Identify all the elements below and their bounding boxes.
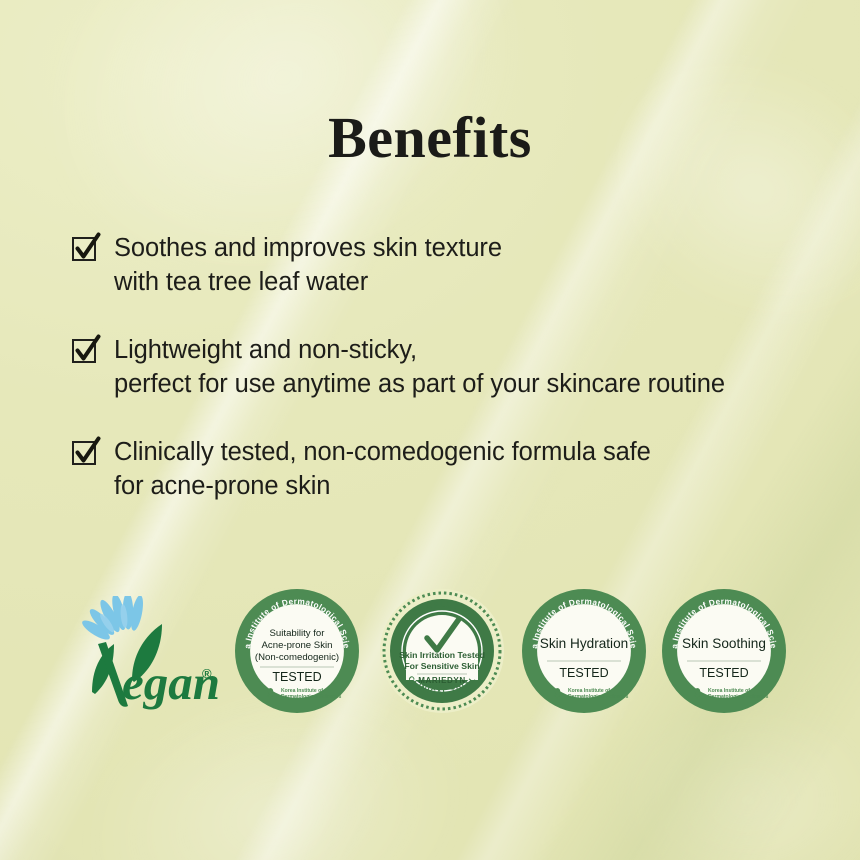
benefit-line-1: Soothes and improves skin texture — [114, 234, 502, 262]
checkmark-icon — [72, 237, 98, 263]
benefit-line-2: for acne-prone skin — [114, 470, 651, 504]
badge-clinical-trial: COMPLETED CLINICAL TRIAL Skin Irritation… — [379, 588, 505, 714]
benefits-list: Soothes and improves skin texture with t… — [72, 232, 832, 503]
checkmark-icon — [72, 441, 98, 467]
vegan-logo: egan ® — [62, 596, 222, 720]
benefits-poster: Benefits Soothes and improves skin textu… — [0, 0, 860, 860]
benefit-line-1: Clinically tested, non-comedogenic formu… — [114, 438, 651, 466]
badge-title-line-1: Skin Hydration — [540, 636, 628, 651]
benefit-line-1: Lightweight and non-sticky, — [114, 336, 417, 364]
vegan-registered-mark: ® — [202, 666, 212, 681]
badge-result: TESTED — [559, 666, 608, 680]
vegan-flower-icon — [80, 596, 146, 643]
checkmark-icon — [72, 339, 98, 365]
benefit-line-2: perfect for use anytime as part of your … — [114, 368, 725, 402]
badge-title-line-1: Skin Soothing — [682, 636, 766, 651]
list-item-text: Clinically tested, non-comedogenic formu… — [114, 436, 651, 504]
page-title: Benefits — [0, 104, 860, 171]
badge-title-line-2: For Sensitive Skin — [404, 661, 479, 671]
badge-title-line-2: Acne-prone Skin — [262, 640, 333, 651]
badge-footer-line-2: Dermatological Sciences — [568, 694, 628, 700]
badge-skin-hydration: Korea Institute of Dermatological Scienc… — [521, 588, 647, 714]
list-item: Clinically tested, non-comedogenic formu… — [72, 436, 832, 504]
list-item-text: Soothes and improves skin texture with t… — [114, 232, 502, 300]
list-item: Soothes and improves skin texture with t… — [72, 232, 832, 300]
badge-skin-soothing: Korea Institute of Dermatological Scienc… — [661, 588, 787, 714]
badge-title-line-3: (Non-comedogenic) — [255, 652, 339, 663]
vegan-text: egan — [122, 655, 220, 710]
benefit-line-2: with tea tree leaf water — [114, 266, 502, 300]
badge-footer-line-2: Dermatological Sciences — [708, 694, 768, 700]
list-item-text: Lightweight and non-sticky, perfect for … — [114, 334, 725, 402]
badge-result: TESTED — [699, 666, 748, 680]
badge-footer-line-2: Dermatological Sciences — [281, 694, 341, 700]
badge-result: TESTED — [272, 670, 321, 684]
badge-title-line-1: Skin Irritation Tested — [399, 650, 485, 660]
badge-title-line-1: Suitability for — [270, 628, 326, 639]
list-item: Lightweight and non-sticky, perfect for … — [72, 334, 832, 402]
certification-badges-row: egan ® Korea Institute of Dermatological… — [0, 588, 860, 728]
badge-acne-prone: Korea Institute of Dermatological Scienc… — [234, 588, 360, 714]
badge-footer-line-1: MARIEDYN — [418, 676, 465, 685]
